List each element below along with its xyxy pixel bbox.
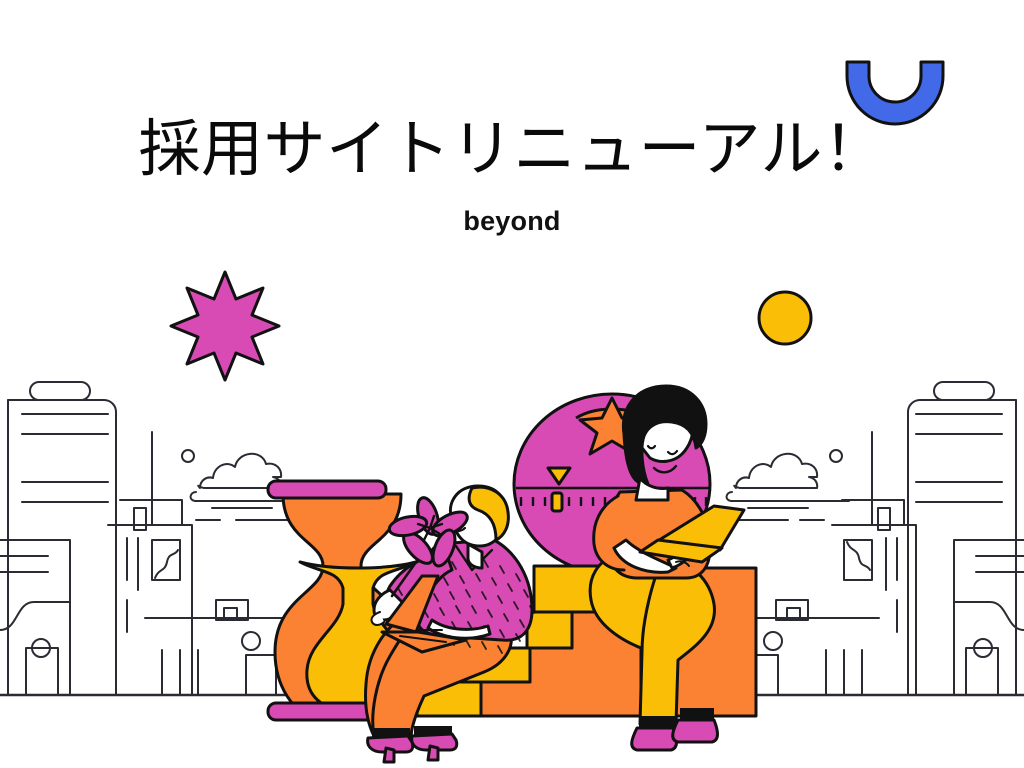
yellow-circle-shape [759, 292, 811, 344]
blue-arc-shape [847, 62, 943, 124]
slide-canvas: 採用サイトリニューアル！ beyond [0, 0, 1024, 768]
magenta-star-shape [171, 272, 279, 380]
decorations-layer [0, 0, 1024, 768]
